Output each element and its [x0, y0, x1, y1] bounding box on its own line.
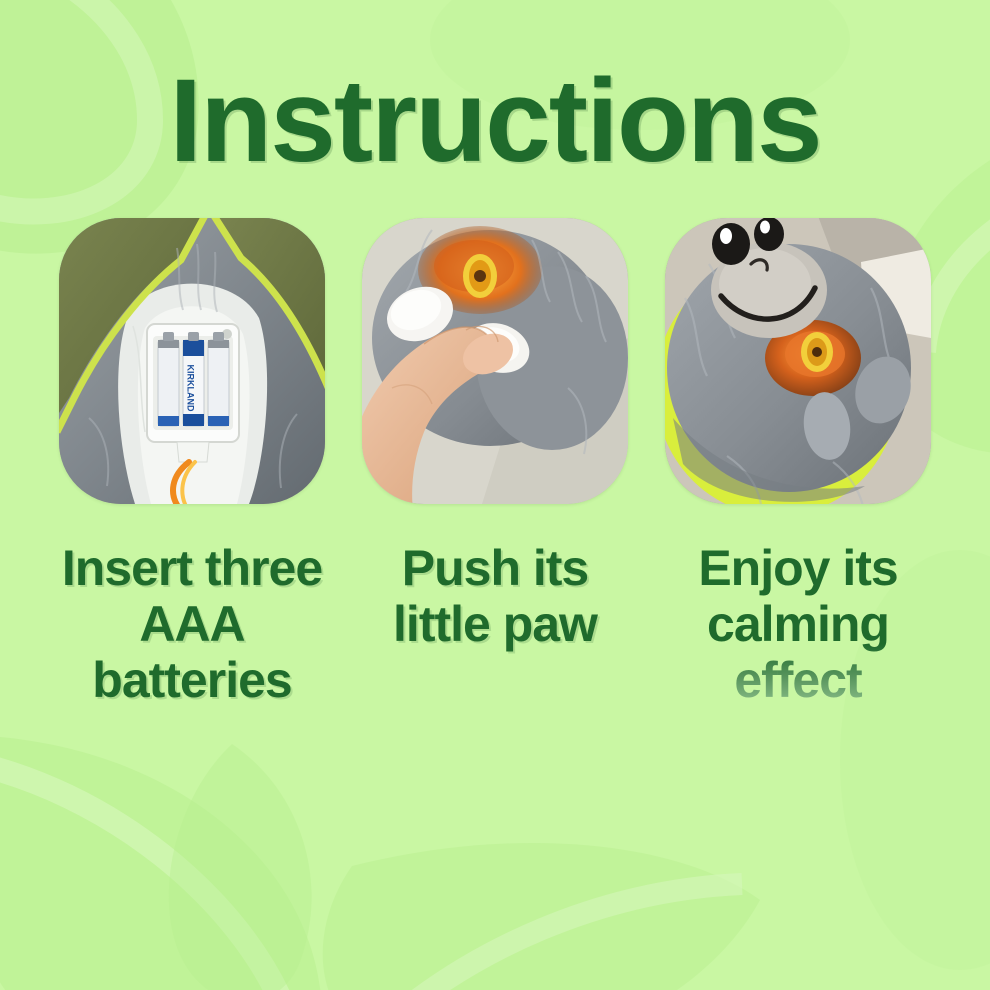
step-caption-2: Push its little paw — [362, 540, 628, 708]
step-image-calming-effect — [665, 218, 931, 504]
step-image-batteries: KIRKLAND — [59, 218, 325, 504]
step-image-row: KIRKLAND — [0, 218, 990, 508]
push-paw-illustration — [362, 218, 628, 504]
step-caption-1: Insert three AAA batteries — [59, 540, 325, 708]
step-image-push-paw — [362, 218, 628, 504]
finished-toy-illustration — [665, 218, 931, 504]
page-title: Instructions — [0, 62, 990, 180]
instructions-poster: Instructions — [0, 0, 990, 990]
step-caption-row: Insert three AAA batteries Push its litt… — [0, 540, 990, 708]
step-caption-3: Enjoy its calming effect — [665, 540, 931, 708]
battery-compartment-illustration: KIRKLAND — [59, 218, 325, 504]
svg-text:KIRKLAND: KIRKLAND — [186, 365, 196, 412]
